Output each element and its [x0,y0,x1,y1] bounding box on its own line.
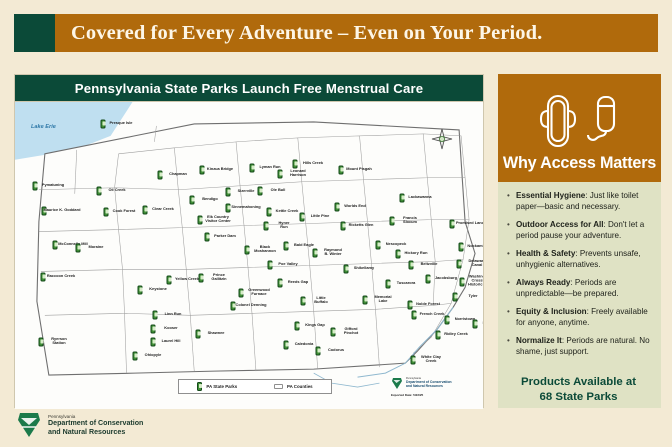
park-pin-icon [408,301,413,310]
park-pin-icon [151,325,156,334]
park-marker[interactable] [268,261,273,270]
park-pin-icon [396,250,401,259]
park-label: Nolde Forest [416,302,440,306]
park-pin-icon [104,208,109,217]
park-pin-icon [457,260,462,269]
park-pin-icon [151,338,156,347]
park-marker[interactable] [53,241,58,250]
park-pin-icon [41,273,46,282]
park-pin-icon [158,171,163,180]
park-marker[interactable] [409,261,414,270]
park-pin-icon [284,341,289,350]
park-pin-icon [411,356,416,365]
park-pin-icon [341,222,346,231]
park-pin-icon [226,188,231,197]
park-label: Kooser [164,326,177,330]
park-label: Presque Isle [110,121,133,125]
park-marker[interactable] [226,188,231,197]
park-label: Shikellamy [354,266,374,270]
park-label: Moraine [89,245,104,249]
park-pin-icon [335,203,340,212]
park-marker[interactable] [151,338,156,347]
lake-erie-label: Lake Erie [31,124,56,130]
park-marker[interactable] [267,208,272,217]
park-pin-icon [196,330,201,339]
park-pin-icon [450,220,455,229]
park-label: Nescopeck [386,242,407,246]
reason-term: Essential Hygiene [516,191,585,200]
park-pin-icon [459,243,464,252]
park-marker[interactable] [331,328,336,337]
park-label: Leonard Harrison [290,169,306,177]
park-pin-icon [412,311,417,320]
park-label: Keystone [149,287,167,291]
park-pin-icon [190,196,195,205]
park-marker[interactable] [33,182,38,191]
map-credit-line3: and Natural Resources [406,385,452,389]
legend-item-parks: PA State Parks [179,382,256,391]
park-marker[interactable] [133,352,138,361]
park-label: Linn Run [165,312,182,316]
park-pin-icon [473,320,478,329]
map-title: Pennsylvania State Parks Launch Free Men… [75,81,423,96]
park-marker[interactable] [167,276,172,285]
park-label: Ricketts Glen [349,223,374,227]
park-label: Reeds Gap [288,280,308,284]
park-pin-icon [460,278,465,287]
park-marker[interactable] [226,204,231,213]
title-band: Covered for Every Adventure – Even on Yo… [55,14,658,52]
park-pin-icon [316,347,321,356]
park-pin-icon [363,296,368,305]
legend-item-counties: PA Counties [256,384,331,389]
park-label: Nockamixon [467,244,483,248]
park-label: Black Moshannon [254,245,276,253]
legend-label-counties: PA Counties [287,384,313,389]
park-marker[interactable] [104,208,109,217]
park-label: Sinnemahoning [231,205,260,209]
panel-icons [498,88,661,154]
park-pin-icon [301,297,306,306]
park-label: Bald Eagle [294,243,314,247]
map-exported-date: Exported Date: 5/22/25 [391,393,477,397]
park-pin-icon [278,170,283,179]
park-marker[interactable] [408,301,413,310]
park-pin-icon [197,382,202,391]
park-pin-icon [295,322,300,331]
title-banner: Covered for Every Adventure – Even on Yo… [14,14,658,52]
park-label: Laurel Hill [162,339,181,343]
park-marker[interactable] [258,187,263,196]
park-label: Pymatuning [42,183,64,187]
park-label: Gifford Pinchot [344,327,358,335]
park-label: Sizerville [238,189,255,193]
park-marker[interactable] [151,325,156,334]
park-label: Hills Creek [303,161,323,165]
park-marker[interactable] [278,170,283,179]
reason-item: Normalize It: Periods are natural. No sh… [504,336,653,358]
park-pin-icon [200,166,205,175]
reason-item: Always Ready: Periods are unpredictable—… [504,278,653,300]
park-label: Kings Gap [305,323,324,327]
park-pin-icon [33,182,38,191]
park-marker[interactable] [445,316,450,325]
park-label: French Creek [420,312,445,316]
reason-term: Health & Safety [516,249,575,258]
park-pin-icon [199,274,204,283]
park-label: Colonel Denning [236,303,267,307]
map-credit: Pennsylvania Department of Conservation … [391,377,477,397]
map-header: Pennsylvania State Parks Launch Free Men… [15,75,483,101]
park-marker[interactable] [190,196,195,205]
park-marker[interactable] [245,246,250,255]
park-marker[interactable] [284,242,289,251]
park-label: Memorial Lake [374,295,391,303]
park-label: Little Pine [311,214,330,218]
park-pin-icon [376,241,381,250]
reasons-list: Essential Hygiene: Just like toilet pape… [504,191,653,365]
menstrual-pad-icon [538,93,578,149]
panel-header: Why Access Matters [498,74,661,182]
park-marker[interactable] [436,331,441,340]
park-label: Promised Land [456,221,483,225]
park-pin-icon [426,275,431,284]
park-pin-icon [331,328,336,337]
park-label: Beltzville [421,262,438,266]
park-label: Kinzua Bridge [207,167,233,171]
park-pin-icon [245,246,250,255]
park-label: Hyner Run [278,221,289,229]
park-label: Washington Crossing Historic Park [468,275,483,288]
park-marker[interactable] [138,286,143,295]
park-marker[interactable] [39,338,44,347]
park-pin-icon [267,208,272,217]
park-pin-icon [386,280,391,289]
park-marker[interactable] [199,274,204,283]
park-label: Prince Gallitzin [211,273,226,281]
park-marker[interactable] [278,279,283,288]
park-marker[interactable] [300,213,305,222]
park-marker[interactable] [376,241,381,250]
park-label: Raccoon Creek [47,274,75,278]
park-marker[interactable] [295,322,300,331]
reason-term: Outdoor Access for All [516,220,604,229]
park-pin-icon [436,331,441,340]
park-label: Shawnee [208,331,225,335]
park-label: Worlds End [344,204,366,208]
map-canvas[interactable]: Lake Erie Presque IslePymatuningMaurice … [15,101,483,409]
infographic-root: Covered for Every Adventure – Even on Yo… [0,0,672,447]
park-marker[interactable] [200,166,205,175]
park-label: Mount Pisgah [346,167,372,171]
park-label: Parker Dam [214,234,236,238]
park-marker[interactable] [363,296,368,305]
park-label: Ole Bull [271,188,286,192]
reason-item: Equity & Inclusion: Freely available for… [504,307,653,329]
park-pin-icon [205,233,210,242]
park-label: McConnells Mill [58,242,87,246]
park-label: Lackawanna [408,195,431,199]
park-label: Cook Forest [113,209,136,213]
park-label: Tuscarora [397,281,416,285]
park-label: Kettle Creek [276,209,299,213]
park-pin-icon [400,194,405,203]
footer-line-3: and Natural Resources [48,428,143,436]
park-marker[interactable] [390,217,395,226]
park-pin-icon [101,120,106,129]
park-pin-icon [133,352,138,361]
footer-line-2: Department of Conservation [48,419,143,427]
park-marker[interactable] [198,216,203,225]
park-pin-icon [339,166,344,175]
park-marker[interactable] [143,206,148,215]
park-marker[interactable] [205,233,210,242]
park-marker[interactable] [412,311,417,320]
products-available-callout: Products Available at 68 State Parks [504,366,653,415]
park-label: Yellow Creek [175,277,199,281]
park-label: Ridley Creek [444,332,468,336]
park-label: White Clay Creek [421,355,441,363]
panel-body: Essential Hygiene: Just like toilet pape… [498,182,661,408]
park-label: Clear Creek [152,207,174,211]
park-label: Bendigo [202,197,218,201]
dcnr-keystone-logo-icon [391,377,403,390]
page-title: Covered for Every Adventure – Even on Yo… [71,22,542,45]
park-label: Maurice K. Goddard [44,208,81,212]
park-pin-icon [53,241,58,250]
park-marker[interactable] [196,330,201,339]
park-pin-icon [300,213,305,222]
park-marker[interactable] [41,273,46,282]
park-label: Caledonia [295,342,314,346]
panel-heading: Why Access Matters [503,154,656,173]
reason-item: Essential Hygiene: Just like toilet pape… [504,191,653,213]
park-marker[interactable] [101,120,106,129]
park-label: Delaware Canal [468,259,483,267]
compass-rose-icon [429,126,455,152]
park-marker[interactable] [313,249,318,258]
reason-item: Health & Safety: Prevents unsafe, unhygi… [504,249,653,271]
park-marker[interactable] [341,222,346,231]
park-pin-icon [445,316,450,325]
park-label: Hickory Run [405,251,428,255]
park-marker[interactable] [153,311,158,320]
dcnr-keystone-logo-icon [16,411,42,439]
reason-term: Normalize It [516,336,562,345]
park-marker[interactable] [450,220,455,229]
dcnr-footer: Pennsylvania Department of Conservation … [16,411,143,439]
park-pin-icon [453,293,458,302]
why-access-panel: Why Access Matters Essential Hygiene: Ju… [498,74,661,408]
park-marker[interactable] [264,222,269,231]
park-pin-icon [198,216,203,225]
park-pin-icon [258,187,263,196]
park-pin-icon [313,249,318,258]
park-marker[interactable] [97,187,102,196]
tampon-icon [582,93,622,149]
park-marker[interactable] [344,265,349,274]
county-outline-icon [274,384,283,389]
park-label: Ryerson Station [51,337,67,345]
reason-term: Equity & Inclusion [516,307,587,316]
park-pin-icon [278,279,283,288]
park-pin-icon [409,261,414,270]
park-marker[interactable] [239,289,244,298]
park-marker[interactable] [158,171,163,180]
park-pin-icon [268,261,273,270]
park-marker[interactable] [339,166,344,175]
park-label: Chapman [169,172,187,176]
park-pin-icon [239,289,244,298]
park-pin-icon [97,187,102,196]
park-marker[interactable] [284,341,289,350]
park-marker[interactable] [335,203,340,212]
cta-line-1: Products Available at [510,375,647,390]
park-marker[interactable] [76,244,81,253]
park-marker[interactable] [301,297,306,306]
park-marker[interactable] [316,347,321,356]
park-pin-icon [344,265,349,274]
park-marker[interactable] [459,243,464,252]
park-marker[interactable] [400,194,405,203]
park-pin-icon [143,206,148,215]
park-marker[interactable] [250,164,255,173]
park-label: Poe Valley [278,262,297,266]
park-pin-icon [138,286,143,295]
park-label: Tyler [468,294,477,298]
reason-item: Outdoor Access for All: Don't let a peri… [504,220,653,242]
park-label: Jacobsburg [435,276,457,280]
park-pin-icon [250,164,255,173]
park-label: Francis Slocum [403,216,417,224]
park-label: Elk Country Visitor Center [205,215,230,223]
park-marker[interactable] [386,280,391,289]
park-pin-icon [264,222,269,231]
park-marker[interactable] [460,278,465,287]
park-label: Ohiopyle [145,353,162,357]
park-label: Oil Creek [108,188,125,192]
title-accent-square [14,14,55,52]
reason-term: Always Ready [516,278,570,287]
park-marker[interactable] [426,275,431,284]
park-pin-icon [284,242,289,251]
park-label: Little Buffalo [314,296,327,304]
park-pin-icon [167,276,172,285]
park-marker[interactable] [411,356,416,365]
map-legend: PA State Parks PA Counties [178,379,332,394]
park-pin-icon [226,204,231,213]
park-pin-icon [390,217,395,226]
legend-label-parks: PA State Parks [206,384,237,389]
park-label: Greenwood Furnace [248,288,269,296]
park-pin-icon [39,338,44,347]
park-pin-icon [153,311,158,320]
park-pin-icon [76,244,81,253]
park-label: Codorus [328,348,344,352]
map-card: Pennsylvania State Parks Launch Free Men… [14,74,484,408]
park-label: Raymond B. Winter [324,248,342,256]
park-marker[interactable] [453,293,458,302]
cta-line-2: 68 State Parks [510,390,647,405]
park-label: Lyman Run [259,165,280,169]
park-marker[interactable] [473,320,478,329]
park-marker[interactable] [457,260,462,269]
park-marker[interactable] [396,250,401,259]
